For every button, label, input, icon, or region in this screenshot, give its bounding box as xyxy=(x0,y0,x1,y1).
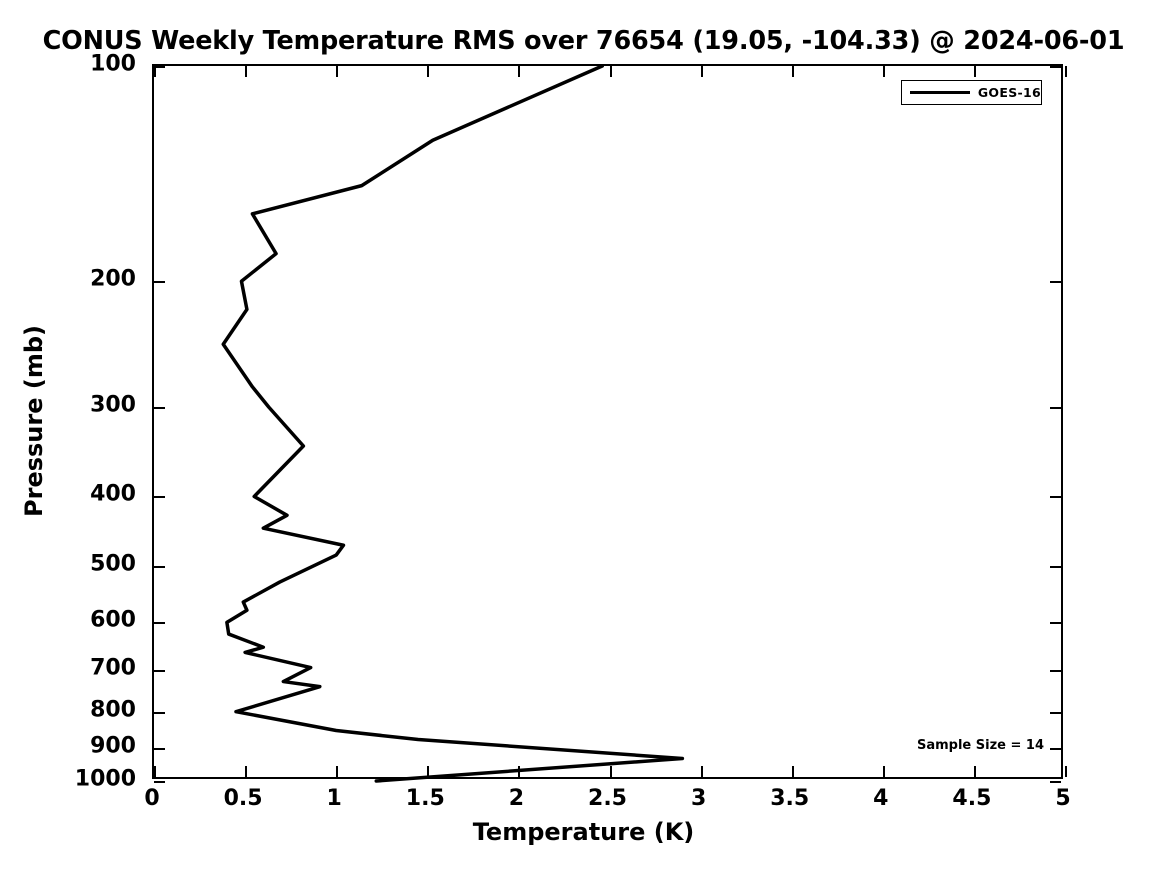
x-tick-mark xyxy=(427,766,429,777)
x-tick-mark xyxy=(154,66,156,77)
x-tick-label: 2 xyxy=(509,786,524,811)
x-tick-mark xyxy=(427,66,429,77)
x-axis-label: Temperature (K) xyxy=(0,818,1167,846)
data-series-goes16 xyxy=(154,66,1065,781)
x-tick-mark xyxy=(792,766,794,777)
x-tick-mark xyxy=(883,66,885,77)
y-tick-mark xyxy=(1050,670,1061,672)
x-tick-mark xyxy=(974,766,976,777)
legend-label-goes16: GOES-16 xyxy=(978,85,1041,100)
y-tick-label: 500 xyxy=(90,551,136,576)
y-tick-label: 200 xyxy=(90,267,136,292)
x-tick-mark xyxy=(336,766,338,777)
x-tick-mark xyxy=(245,766,247,777)
x-tick-mark xyxy=(610,766,612,777)
legend-line-swatch xyxy=(910,91,970,94)
y-tick-mark xyxy=(1050,748,1061,750)
x-tick-mark xyxy=(792,66,794,77)
y-tick-mark xyxy=(154,781,165,783)
y-tick-label: 400 xyxy=(90,482,136,507)
y-tick-label: 600 xyxy=(90,608,136,633)
x-tick-label: 3 xyxy=(691,786,706,811)
x-tick-label: 2.5 xyxy=(588,786,627,811)
x-tick-label: 3.5 xyxy=(770,786,809,811)
x-tick-mark xyxy=(1065,66,1067,77)
y-tick-mark xyxy=(154,712,165,714)
sample-size-annotation: Sample Size = 14 xyxy=(917,738,1044,753)
x-tick-label: 4.5 xyxy=(952,786,991,811)
x-tick-mark xyxy=(245,66,247,77)
figure-canvas: CONUS Weekly Temperature RMS over 76654 … xyxy=(0,0,1167,875)
y-tick-mark xyxy=(1050,496,1061,498)
x-tick-mark xyxy=(518,66,520,77)
x-tick-mark xyxy=(518,766,520,777)
y-tick-mark xyxy=(1050,781,1061,783)
x-tick-mark xyxy=(701,766,703,777)
y-tick-label: 1000 xyxy=(75,767,136,792)
x-tick-mark xyxy=(701,66,703,77)
x-tick-label: 0 xyxy=(144,786,159,811)
y-tick-mark xyxy=(154,566,165,568)
goes16-line xyxy=(223,66,682,781)
y-tick-mark xyxy=(154,748,165,750)
y-tick-mark xyxy=(1050,407,1061,409)
x-tick-mark xyxy=(1065,766,1067,777)
y-tick-label: 700 xyxy=(90,656,136,681)
y-tick-mark xyxy=(1050,622,1061,624)
chart-title: CONUS Weekly Temperature RMS over 76654 … xyxy=(0,26,1167,56)
x-tick-mark xyxy=(154,766,156,777)
x-tick-label: 1 xyxy=(327,786,342,811)
y-tick-label: 900 xyxy=(90,734,136,759)
x-tick-label: 0.5 xyxy=(224,786,263,811)
y-tick-label: 300 xyxy=(90,393,136,418)
x-tick-mark xyxy=(974,66,976,77)
y-tick-mark xyxy=(154,496,165,498)
y-tick-mark xyxy=(1050,566,1061,568)
x-tick-mark xyxy=(883,766,885,777)
x-tick-mark xyxy=(610,66,612,77)
y-tick-label: 800 xyxy=(90,697,136,722)
y-tick-mark xyxy=(1050,281,1061,283)
y-tick-mark xyxy=(154,407,165,409)
y-tick-mark xyxy=(1050,712,1061,714)
y-tick-label: 100 xyxy=(90,52,136,77)
x-tick-label: 5 xyxy=(1055,786,1070,811)
x-tick-label: 1.5 xyxy=(406,786,445,811)
y-tick-mark xyxy=(154,670,165,672)
y-tick-mark xyxy=(1050,66,1061,68)
x-tick-mark xyxy=(336,66,338,77)
y-axis-label: Pressure (mb) xyxy=(20,325,48,517)
x-tick-label: 4 xyxy=(873,786,888,811)
legend-box: GOES-16 xyxy=(901,80,1042,105)
y-tick-mark xyxy=(154,281,165,283)
y-tick-mark xyxy=(154,622,165,624)
plot-area xyxy=(152,64,1063,779)
